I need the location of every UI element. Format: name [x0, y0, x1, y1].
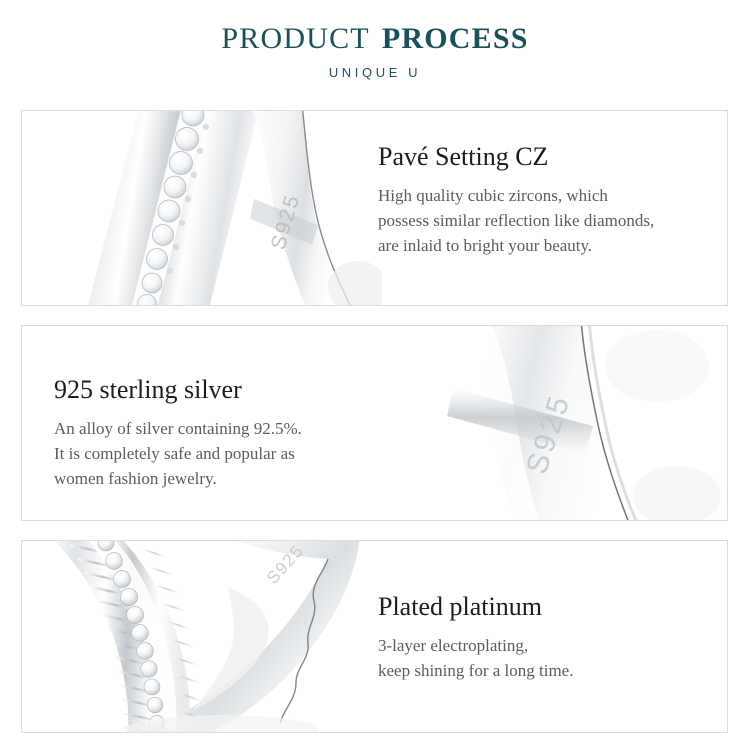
ring-macro-pave-band-illustration: S925 [22, 111, 382, 305]
panel-body-line: It is completely safe and popular as [54, 441, 392, 466]
page-header: PRODUCTPROCESS UNIQUE U [0, 0, 750, 100]
panel-body-line: keep shining for a long time. [378, 658, 710, 683]
ring-full-view-plated-photo: S925 [22, 541, 392, 732]
panel-body-line: are inlaid to bright your beauty. [378, 233, 710, 258]
panel-body-line: 3-layer electroplating, [378, 633, 710, 658]
panel-body: 3-layer electroplating, keep shining for… [378, 633, 710, 683]
panel-text-plated-platinum: Plated platinum 3-layer electroplating, … [356, 541, 728, 732]
panel-body-line: possess similar reflection like diamonds… [378, 208, 710, 233]
panel-heading: Pavé Setting CZ [378, 141, 710, 173]
page-title-light: PRODUCT [221, 22, 369, 55]
ring-macro-pave-band-photo: S925 [22, 111, 382, 305]
product-process-infographic: PRODUCTPROCESS UNIQUE U [0, 0, 750, 749]
feature-panel-plated-platinum: S925 [21, 540, 728, 733]
panel-text-pave-setting-cz: Pavé Setting CZ High quality cubic zirco… [356, 111, 728, 305]
panel-heading: 925 sterling silver [54, 374, 392, 406]
panel-body-line: High quality cubic zircons, which [378, 183, 710, 208]
panel-body: An alloy of silver containing 92.5%. It … [54, 416, 392, 491]
panel-body-line: women fashion jewelry. [54, 466, 392, 491]
feature-panel-925-sterling-silver: S925 925 sterling silver An alloy of sil… [21, 325, 728, 521]
panel-body-line: An alloy of silver containing 92.5%. [54, 416, 392, 441]
ring-full-view-plated-illustration: S925 [22, 541, 392, 732]
page-subtitle: UNIQUE U [0, 64, 750, 81]
panel-body: High quality cubic zircons, which posses… [378, 183, 710, 258]
panel-heading: Plated platinum [378, 591, 710, 623]
page-title: PRODUCTPROCESS [0, 22, 750, 56]
page-title-strong: PROCESS [382, 22, 529, 55]
feature-panel-pave-setting-cz: S925 Pavé Setting CZ High quality cubic … [21, 110, 728, 306]
panel-text-925-sterling-silver: 925 sterling silver An alloy of silver c… [22, 326, 402, 520]
